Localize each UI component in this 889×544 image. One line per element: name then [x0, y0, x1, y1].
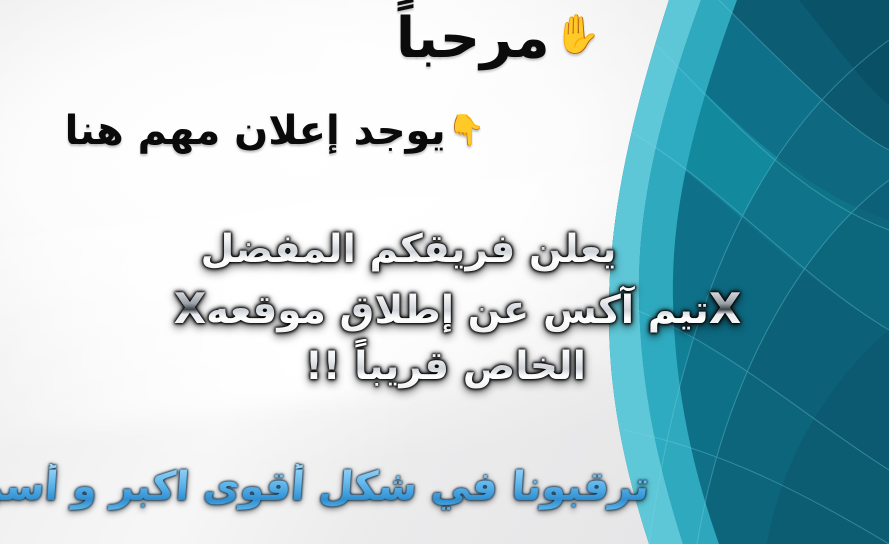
- greeting-text: مرحباً: [396, 6, 550, 71]
- raised-hand-icon: ✋: [554, 12, 601, 56]
- announcement-banner: ✋مرحباً 👇يوجد إعلان مهم هنا يعلن فريقكم …: [0, 0, 889, 544]
- footer-line: ترقبونا في شكل أقوى اكبر و أسرع !: [0, 464, 651, 510]
- announcement-line-3: الخاص قريباً !!: [0, 339, 889, 396]
- greeting-line: ✋مرحباً: [396, 6, 601, 71]
- announcement-line-2-text: تيم آكس عن إطلاق موقعه: [206, 288, 709, 333]
- announcement-paragraph: يعلن فريقكم المفضل Xتيم آكس عن إطلاق موق…: [0, 222, 889, 396]
- subheading-line: 👇يوجد إعلان مهم هنا: [65, 108, 485, 154]
- announcement-line-2: Xتيم آكس عن إطلاق موقعهX: [0, 279, 889, 340]
- brand-mark-x-right: X: [709, 284, 741, 333]
- brand-mark-x-left: X: [174, 284, 206, 333]
- banner-content: ✋مرحباً 👇يوجد إعلان مهم هنا يعلن فريقكم …: [0, 0, 889, 544]
- pointing-down-icon: 👇: [448, 113, 485, 148]
- subheading-text: يوجد إعلان مهم هنا: [65, 108, 446, 154]
- announcement-line-1: يعلن فريقكم المفضل: [0, 222, 889, 279]
